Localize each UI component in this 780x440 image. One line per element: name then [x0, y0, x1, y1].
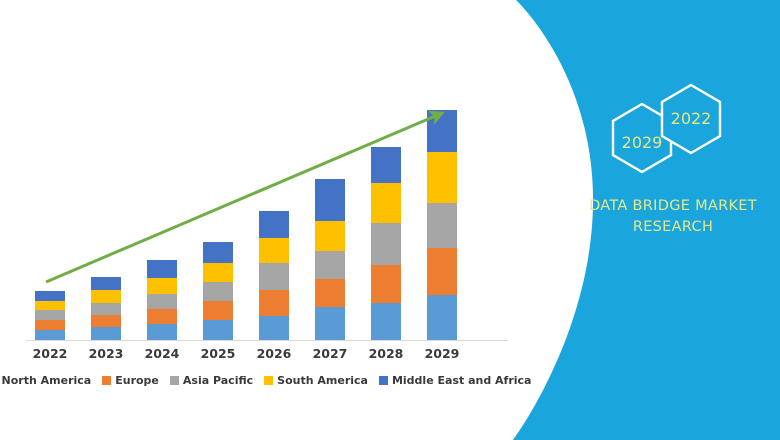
bar-2026[interactable]	[259, 211, 289, 340]
bar-segment[interactable]	[147, 324, 177, 340]
bar-segment[interactable]	[315, 221, 345, 251]
bar-segment[interactable]	[147, 294, 177, 309]
legend-label: Middle East and Africa	[392, 374, 532, 387]
legend-item[interactable]: North America	[0, 374, 91, 387]
hexagon-2029-outline	[613, 104, 671, 172]
slide-root: 2029 2022 DATA BRIDGE MARKET RESEARCH 20…	[0, 0, 780, 440]
bar-segment[interactable]	[371, 183, 401, 223]
bar-segment[interactable]	[91, 315, 121, 327]
bar-2025[interactable]	[203, 242, 233, 340]
x-axis-label-2024: 2024	[134, 346, 190, 361]
bar-2022[interactable]	[35, 291, 65, 340]
bar-segment[interactable]	[147, 309, 177, 324]
bar-segment[interactable]	[427, 203, 457, 248]
bar-segment[interactable]	[35, 330, 65, 340]
brand-title-line2: RESEARCH	[580, 217, 766, 238]
x-axis-label-2023: 2023	[78, 346, 134, 361]
bar-2029[interactable]	[427, 110, 457, 340]
bar-segment[interactable]	[91, 290, 121, 303]
bar-segment[interactable]	[203, 282, 233, 301]
bar-segment[interactable]	[91, 303, 121, 315]
legend-item[interactable]: South America	[264, 374, 368, 387]
legend-item[interactable]: Europe	[102, 374, 159, 387]
x-axis-category-labels: 20222023202420252026202720282029	[0, 346, 520, 366]
bar-segment[interactable]	[371, 147, 401, 183]
hexagon-2029-label: 2029	[622, 133, 663, 152]
bar-segment[interactable]	[315, 279, 345, 307]
bar-segment[interactable]	[203, 263, 233, 282]
legend-label: Asia Pacific	[183, 374, 253, 387]
x-axis-label-2026: 2026	[246, 346, 302, 361]
bar-2027[interactable]	[315, 179, 345, 340]
bar-segment[interactable]	[35, 301, 65, 311]
bar-segment[interactable]	[315, 179, 345, 221]
bar-segment[interactable]	[259, 211, 289, 238]
bar-segment[interactable]	[371, 223, 401, 265]
bar-segment[interactable]	[427, 248, 457, 295]
bar-2023[interactable]	[91, 277, 121, 340]
legend-label: North America	[2, 374, 92, 387]
bar-segment[interactable]	[259, 316, 289, 340]
x-axis-label-2022: 2022	[22, 346, 78, 361]
x-axis-label-2027: 2027	[302, 346, 358, 361]
brand-title: DATA BRIDGE MARKET RESEARCH	[580, 196, 766, 238]
hexagon-2022-outline	[662, 85, 720, 153]
bar-segment[interactable]	[259, 290, 289, 316]
bar-segment[interactable]	[147, 260, 177, 278]
bar-segment[interactable]	[259, 263, 289, 290]
bar-segment[interactable]	[203, 242, 233, 263]
legend-label: Europe	[115, 374, 159, 387]
bar-segment[interactable]	[427, 295, 457, 340]
bar-segment[interactable]	[315, 251, 345, 279]
bar-segment[interactable]	[371, 303, 401, 340]
hexagon-2022-label: 2022	[671, 109, 712, 128]
bar-segment[interactable]	[147, 278, 177, 294]
plot-area	[26, 20, 496, 340]
legend-swatch-icon	[264, 376, 273, 385]
bar-segment[interactable]	[35, 310, 65, 320]
bar-segment[interactable]	[91, 277, 121, 290]
bar-2028[interactable]	[371, 147, 401, 340]
legend-item[interactable]: Middle East and Africa	[379, 374, 532, 387]
legend-swatch-icon	[379, 376, 388, 385]
x-axis-label-2025: 2025	[190, 346, 246, 361]
bar-segment[interactable]	[203, 301, 233, 320]
x-axis-line	[26, 340, 508, 341]
legend-label: South America	[277, 374, 368, 387]
bar-segment[interactable]	[91, 327, 121, 340]
bar-segment[interactable]	[35, 291, 65, 301]
bar-segment[interactable]	[427, 110, 457, 152]
x-axis-label-2028: 2028	[358, 346, 414, 361]
bar-2024[interactable]	[147, 260, 177, 340]
stacked-bar-chart: 20222023202420252026202720282029 North A…	[0, 0, 520, 440]
bar-segment[interactable]	[259, 238, 289, 263]
bar-segment[interactable]	[35, 320, 65, 330]
bar-segment[interactable]	[371, 265, 401, 303]
chart-legend: North AmericaEuropeAsia PacificSouth Ame…	[0, 374, 520, 387]
bar-segment[interactable]	[427, 152, 457, 203]
legend-swatch-icon	[102, 376, 111, 385]
legend-item[interactable]: Asia Pacific	[170, 374, 253, 387]
brand-title-line1: DATA BRIDGE MARKET	[580, 196, 766, 217]
bar-segment[interactable]	[315, 307, 345, 340]
bar-segment[interactable]	[203, 320, 233, 340]
x-axis-label-2029: 2029	[414, 346, 470, 361]
legend-swatch-icon	[170, 376, 179, 385]
